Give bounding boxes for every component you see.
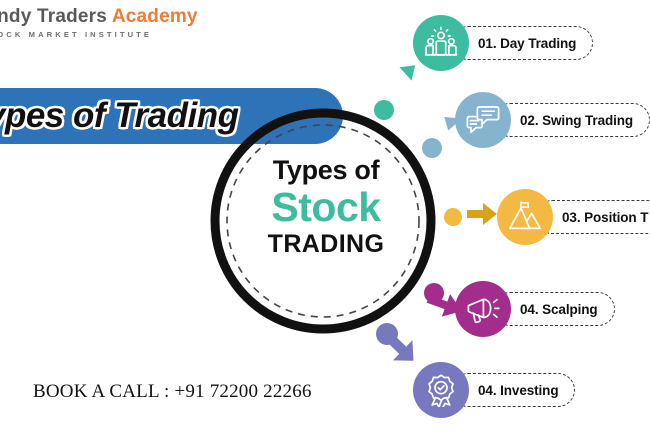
ring-dot-day-trading [374,100,394,120]
list-item-swing-trading[interactable]: 02. Swing Trading [455,92,650,148]
day-trading-icon-circle [413,15,469,71]
ring-dot-investing [376,323,398,345]
investing-icon-circle [413,362,469,418]
brand-name-accent: Academy [112,6,198,27]
megaphone-icon [466,293,500,325]
day-trading-label-pill[interactable]: 01. Day Trading [451,26,593,60]
brand-name-primary: Trendy Traders [0,6,112,27]
investing-label: 04. Investing [478,383,558,398]
arrow-to-position-trading [465,200,499,233]
book-a-call-cta: BOOK A CALL : +91 72200 22266 [33,381,312,403]
central-ring [198,96,448,346]
brand-tagline: A STOCK MARKET INSTITUTE [0,30,228,39]
ring-inner-dashed [227,125,419,317]
scalping-icon-circle [455,281,511,337]
mountain-flag-icon [508,201,542,233]
swing-trading-label-pill[interactable]: 02. Swing Trading [493,103,650,137]
list-item-investing[interactable]: 04. Investing [413,362,575,418]
award-ribbon-icon [424,373,458,407]
ring-dot-position-trading [444,208,462,226]
position-trading-label: 03. Position T [562,210,648,225]
scalping-label-pill[interactable]: 04. Scalping [493,292,615,326]
swing-trading-icon-circle [455,92,511,148]
position-trading-icon-circle [497,189,553,245]
list-item-position-trading[interactable]: 03. Position T [497,189,650,245]
day-trading-label: 01. Day Trading [478,36,576,51]
ring-dot-swing-trading [422,138,442,158]
swing-trading-label: 02. Swing Trading [520,113,633,128]
people-group-icon [424,26,458,60]
list-item-scalping[interactable]: 04. Scalping [455,281,615,337]
brand-logo: Trendy Traders Academy A STOCK MARKET IN… [0,6,228,39]
investing-label-pill[interactable]: 04. Investing [451,373,575,407]
arrow-to-day-trading [384,54,420,97]
ring-dot-scalping [424,283,444,303]
list-item-day-trading[interactable]: 01. Day Trading [413,15,593,71]
ring-outer-stroke [215,113,431,329]
brand-name: Trendy Traders Academy [0,6,228,28]
chat-bubbles-icon [466,104,500,136]
scalping-label: 04. Scalping [520,302,598,317]
poster-canvas: Trendy Traders Academy A STOCK MARKET IN… [0,0,650,433]
